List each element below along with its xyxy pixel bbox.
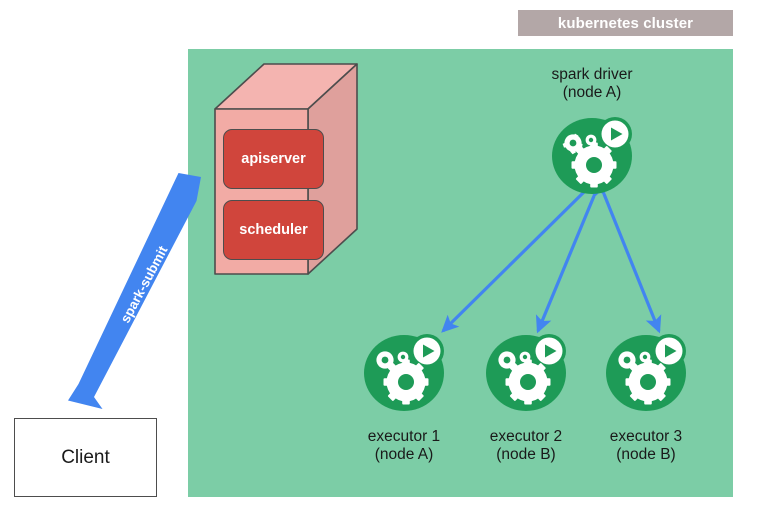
node-spark-driver	[547, 113, 637, 197]
node-caption-executor-2: executor 2 (node B)	[461, 428, 591, 465]
node-executor-1	[359, 330, 449, 414]
executor-1-subtitle: (node A)	[339, 446, 469, 464]
client-label: Client	[61, 447, 110, 469]
executor-3-title: executor 3	[581, 428, 711, 446]
executor-2-subtitle: (node B)	[461, 446, 591, 464]
gears-play-icon	[601, 330, 691, 414]
scheduler-label: scheduler	[239, 222, 308, 238]
kubernetes-cluster-label: kubernetes cluster	[558, 15, 693, 32]
node-caption-executor-1: executor 1 (node A)	[339, 428, 469, 465]
control-plane-cube: apiserver scheduler	[206, 63, 358, 278]
client-box: Client	[14, 418, 157, 497]
gears-play-icon	[359, 330, 449, 414]
node-executor-2	[481, 330, 571, 414]
apiserver-label: apiserver	[241, 151, 306, 167]
node-caption-spark-driver: spark driver (node A)	[527, 66, 657, 103]
node-caption-executor-3: executor 3 (node B)	[581, 428, 711, 465]
spark-driver-subtitle: (node A)	[527, 84, 657, 102]
diagram-canvas: kubernetes cluster spark-submit Client a…	[0, 0, 761, 516]
executor-1-title: executor 1	[339, 428, 469, 446]
spark-submit-arrow-shape	[56, 165, 216, 415]
gears-play-icon	[547, 113, 637, 197]
spark-submit-arrow: spark-submit	[56, 165, 216, 415]
apiserver-component: apiserver	[223, 129, 324, 189]
kubernetes-cluster-banner: kubernetes cluster	[518, 10, 733, 36]
gears-play-icon	[481, 330, 571, 414]
spark-driver-title: spark driver	[527, 66, 657, 84]
scheduler-component: scheduler	[223, 200, 324, 260]
executor-2-title: executor 2	[461, 428, 591, 446]
executor-3-subtitle: (node B)	[581, 446, 711, 464]
node-executor-3	[601, 330, 691, 414]
